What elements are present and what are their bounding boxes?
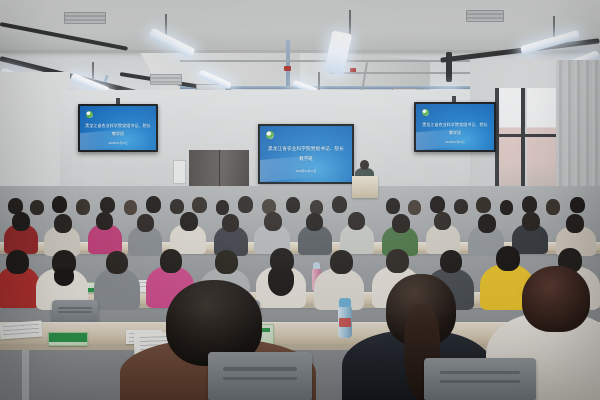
air-vent-left <box>64 12 106 24</box>
presenter-head <box>360 160 369 170</box>
projection-slide: 黑龙江省农业科学院党组书记、院长 教学班 2023年12月13日 <box>260 126 352 182</box>
desk-leg-left <box>22 350 29 400</box>
window-mullion-2 <box>521 88 525 194</box>
air-vent-center <box>150 74 182 85</box>
bottle-graphic <box>339 318 351 327</box>
lecture-hall-photo: 黑龙江省农业科学院党组书记、院长 教学班 2023年12月13日 黑龙江省农业科… <box>0 0 600 400</box>
ceiling-slab <box>0 0 600 52</box>
light-rod-2 <box>349 10 351 34</box>
sprinkler-pipe-vertical <box>286 40 290 88</box>
slide-title-line2: 教学班 <box>260 156 352 162</box>
institute-emblem-icon <box>422 109 429 116</box>
projection-screen-main[interactable]: 黑龙江省农业科学院党组书记、院长 教学班 2023年12月13日 <box>258 124 354 184</box>
window-transom <box>495 134 561 137</box>
slide-date-line: 2023年12月13日 <box>80 141 156 145</box>
slide-date-line: 2023年12月13日 <box>416 140 494 144</box>
chair[interactable] <box>208 352 312 400</box>
slide-date-line: 2023年12月13日 <box>260 169 352 173</box>
window-pane-2 <box>527 88 557 192</box>
institute-emblem-icon <box>266 131 274 139</box>
conduit-drop <box>446 52 452 82</box>
audience-row-2 <box>0 246 600 298</box>
slide-title-line2: 教学班 <box>80 131 156 137</box>
institute-emblem-icon <box>86 111 93 118</box>
sprinkler-valve-a <box>284 66 291 71</box>
chair[interactable] <box>424 358 536 400</box>
light-rod-4 <box>92 62 94 80</box>
green-name-card <box>48 332 88 346</box>
audience-row-3 <box>0 208 600 248</box>
wall-monitor-right[interactable]: 黑龙江省农业科学院党组书记、院长 教学班 2023年12月13日 <box>414 102 496 152</box>
slide-title-line1: 黑龙江省农业科学院党组书记、院长 <box>416 122 494 128</box>
wall-monitor-left[interactable]: 黑龙江省农业科学院党组书记、院长 教学班 2023年12月13日 <box>78 104 158 152</box>
handout-paper <box>0 321 43 340</box>
wall-monitor-right-slide: 黑龙江省农业科学院党组书记、院长 教学班 2023年12月13日 <box>416 104 494 150</box>
water-bottle-blue-cap <box>339 298 351 307</box>
air-vent-right <box>466 10 504 22</box>
slide-title-line1: 黑龙江省农业科学院党组书记、院长 <box>80 123 156 129</box>
window-pane-1 <box>497 88 521 192</box>
chair[interactable] <box>52 300 98 322</box>
light-rod-5 <box>318 72 320 90</box>
wall-monitor-left-slide: 黑龙江省农业科学院党组书记、院长 教学班 2023年12月13日 <box>80 106 156 150</box>
slide-title-line2: 教学班 <box>416 130 494 136</box>
wall-control-box[interactable] <box>173 160 186 184</box>
slide-title-line1: 黑龙江省农业科学院党组书记、院长 <box>260 146 352 152</box>
